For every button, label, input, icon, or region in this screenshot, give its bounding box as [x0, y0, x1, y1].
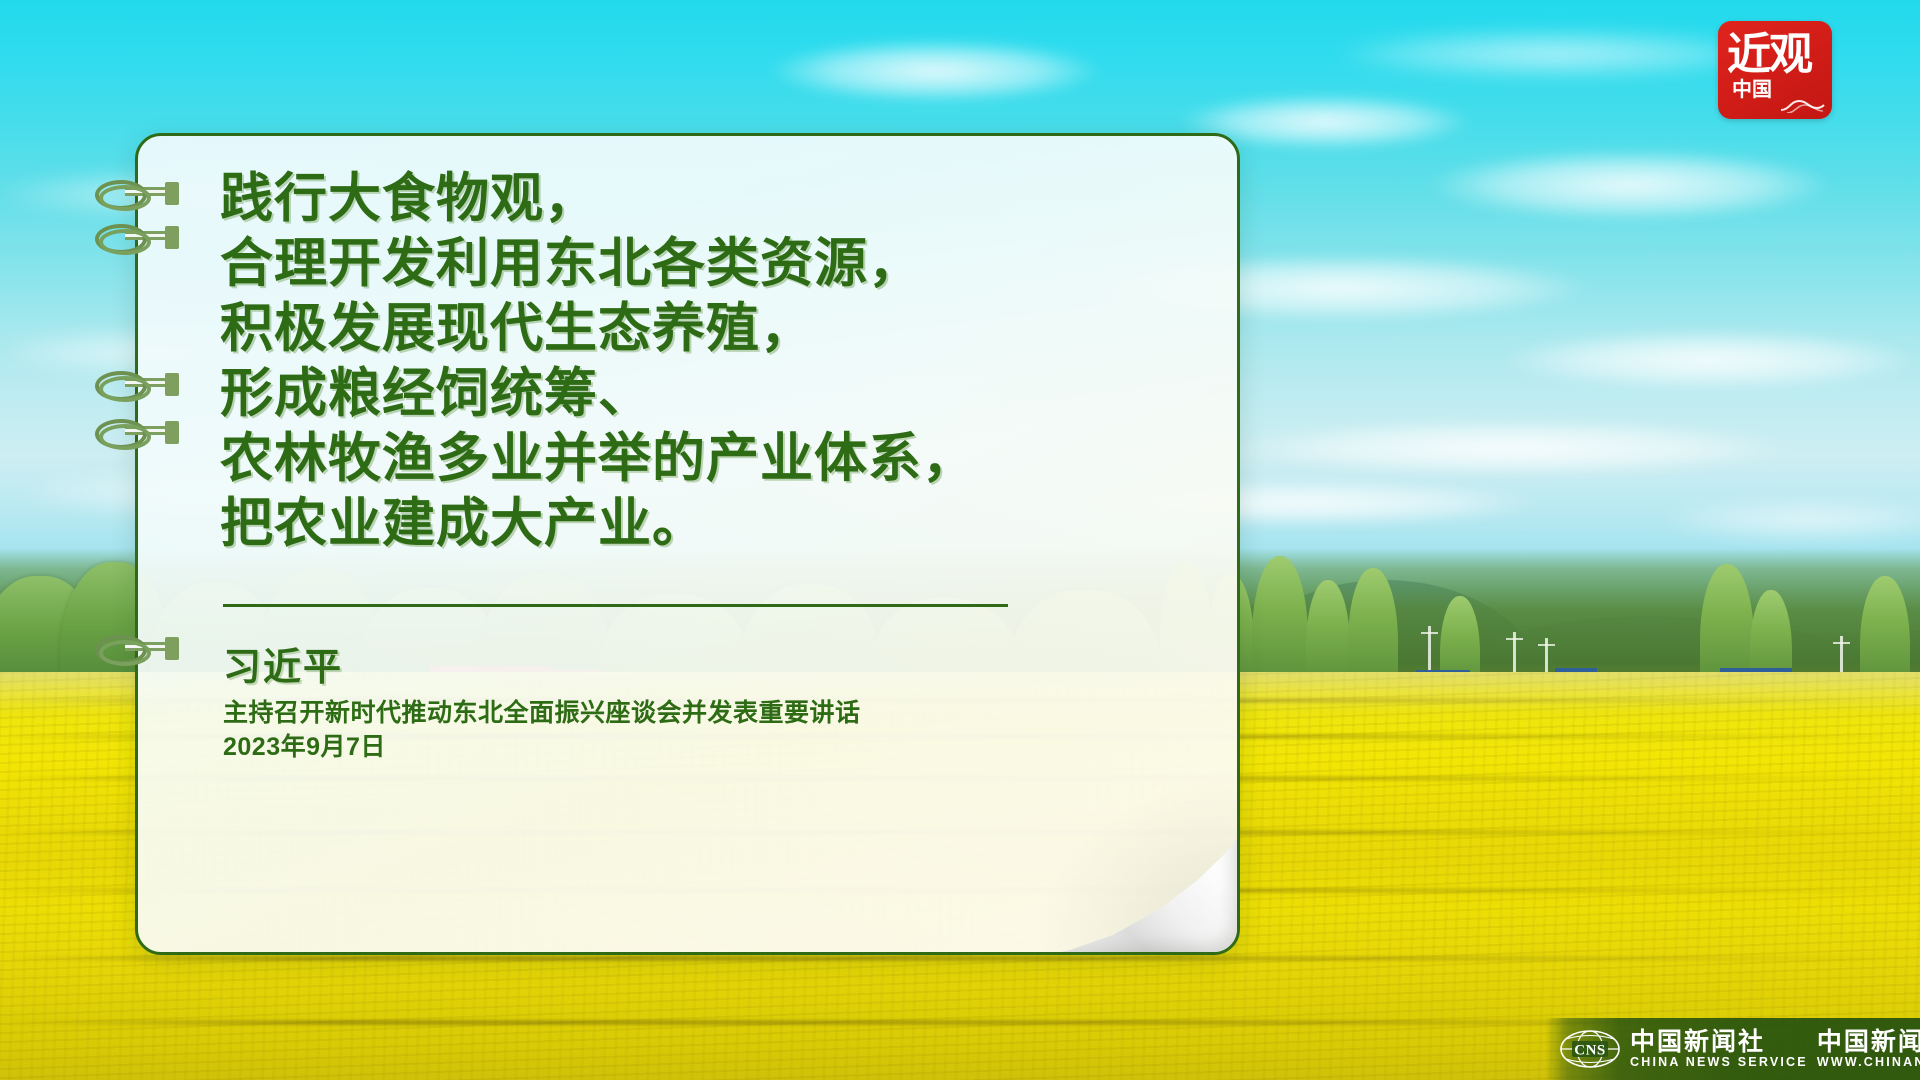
cns-site-block: 中国新闻网 WWW.CHINANEWS.COM [1817, 1028, 1920, 1070]
brand-badge-subtitle: 中国 [1732, 79, 1772, 101]
binding-ring [95, 180, 175, 210]
quote-block: 践行大食物观， 合理开发利用东北各类资源， 积极发展现代生态养殖， 形成粮经饲统… [220, 166, 1150, 556]
binding-ring [95, 371, 175, 401]
cns-site-en: WWW.CHINANEWS.COM [1817, 1055, 1920, 1070]
occasion-text: 主持召开新时代推动东北全面振兴座谈会并发表重要讲话 [223, 693, 861, 729]
page-curl [1049, 794, 1239, 954]
quote-card: 践行大食物观， 合理开发利用东北各类资源， 积极发展现代生态养殖， 形成粮经饲统… [135, 133, 1240, 955]
brand-badge-title: 近观 [1727, 27, 1823, 85]
cns-footer-bar: CNS 中国新闻社 CHINA NEWS SERVICE 中国新闻网 WWW.C… [1545, 1018, 1920, 1080]
divider-rule [223, 604, 1008, 607]
cns-agency-en: CHINA NEWS SERVICE [1630, 1055, 1808, 1070]
cloud-shape [1500, 330, 1920, 390]
binding-ring [95, 635, 175, 665]
brand-badge[interactable]: 近观 中国 [1718, 21, 1832, 119]
cns-agency-cn: 中国新闻社 [1630, 1028, 1808, 1055]
quote-line: 践行大食物观， [220, 166, 1150, 231]
speech-date: 2023年9月7日 [223, 727, 386, 763]
quote-line: 农林牧渔多业并举的产业体系， [220, 426, 1150, 491]
wave-swoosh-icon [1779, 97, 1825, 113]
cloud-shape [1230, 420, 1790, 476]
cloud-shape [1430, 150, 1830, 220]
quote-line: 把农业建成大产业。 [220, 491, 1150, 556]
svg-text:CNS: CNS [1574, 1043, 1606, 1059]
cloud-shape [770, 40, 1100, 102]
cloud-shape [1340, 30, 1770, 78]
binding-ring [95, 224, 175, 254]
quote-line: 形成粮经饲统筹、 [220, 361, 1150, 426]
binding-ring [95, 419, 175, 449]
speaker-name: 习近平 [223, 636, 343, 691]
quote-line: 积极发展现代生态养殖， [220, 296, 1150, 361]
quote-line: 合理开发利用东北各类资源， [220, 231, 1150, 296]
cns-agency-block: 中国新闻社 CHINA NEWS SERVICE [1630, 1028, 1808, 1070]
cns-site-cn: 中国新闻网 [1817, 1028, 1920, 1055]
cns-globe-icon: CNS [1559, 1029, 1621, 1069]
